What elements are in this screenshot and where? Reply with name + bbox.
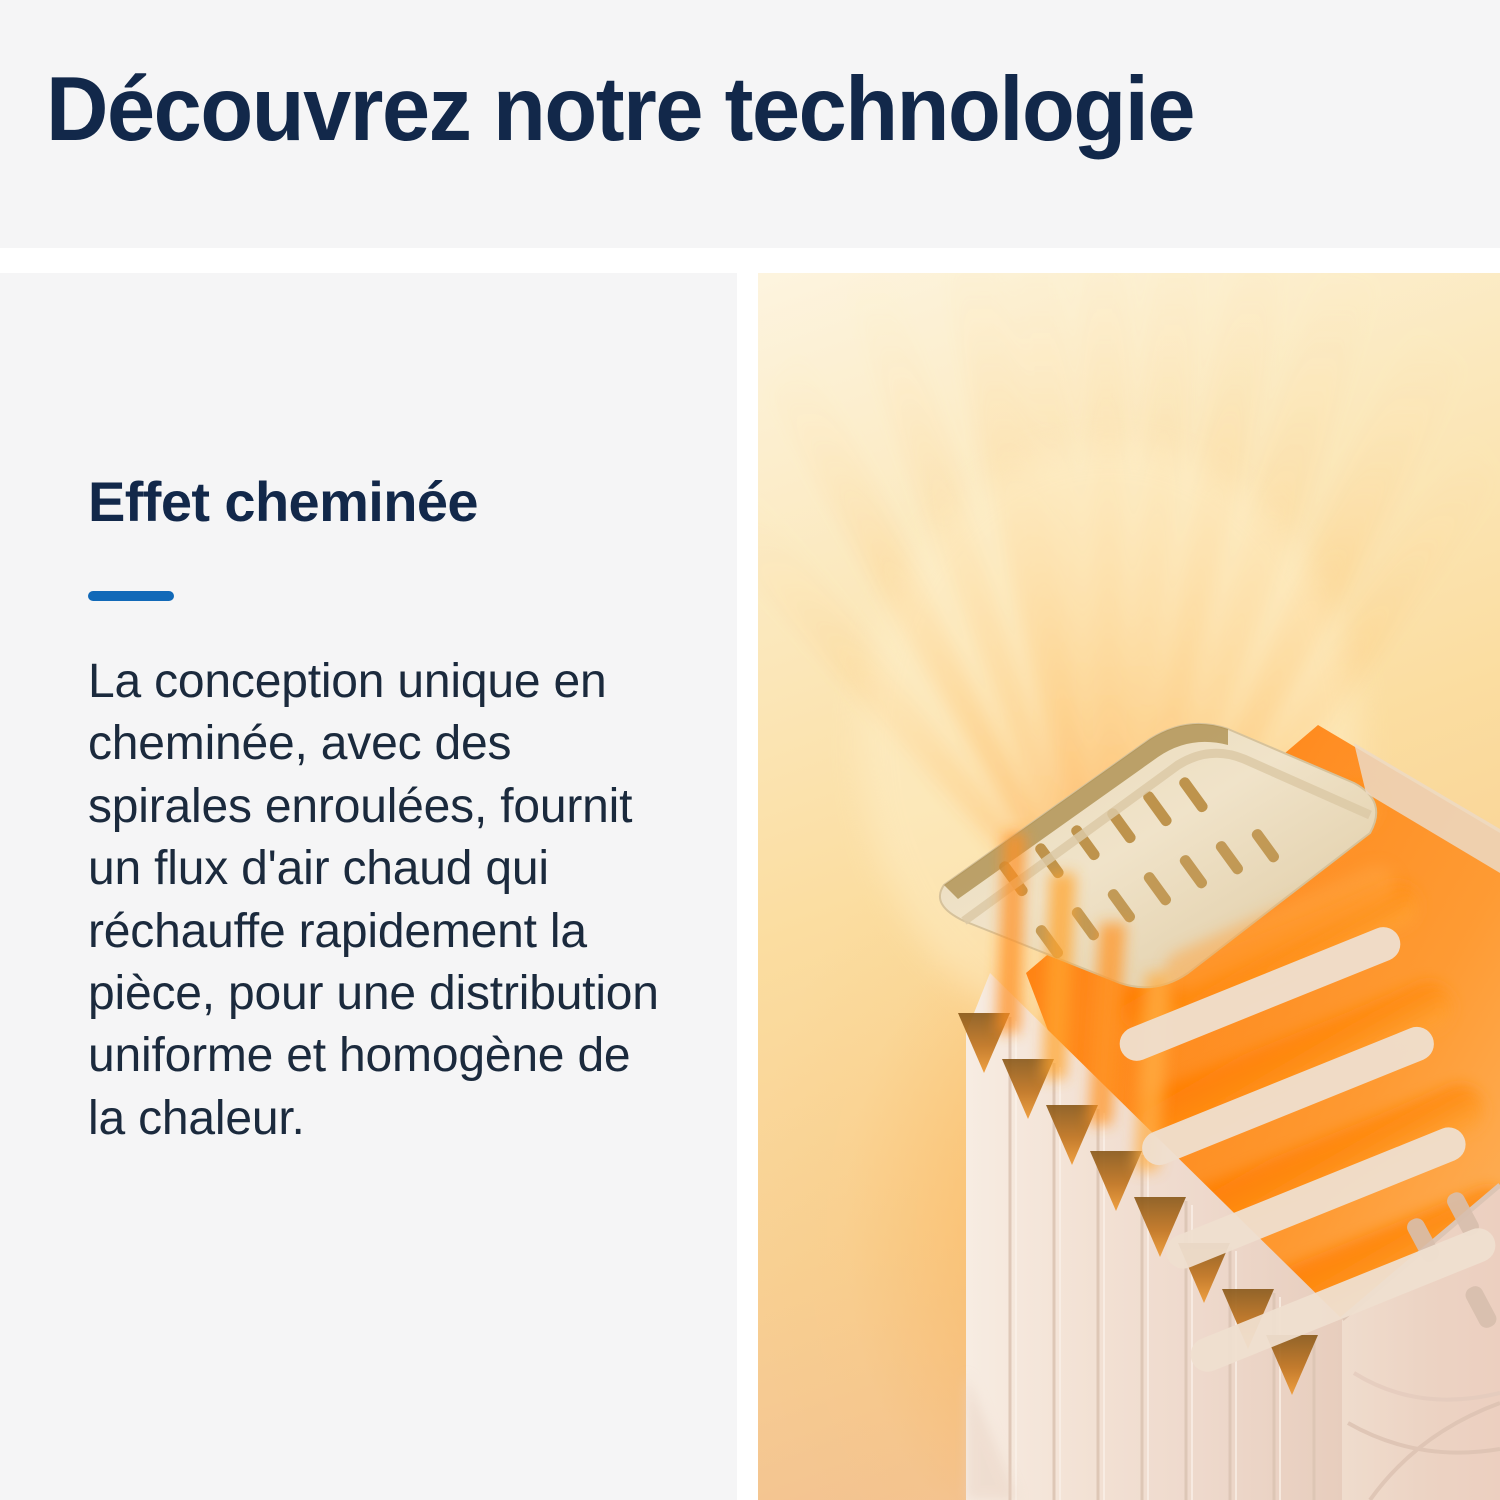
- header-band: Découvrez notre technologie: [0, 0, 1500, 248]
- header-content-divider: [0, 248, 1500, 273]
- feature-heading: Effet cheminée: [88, 469, 478, 534]
- product-image-panel: [758, 273, 1500, 1500]
- page-title: Découvrez notre technologie: [46, 62, 1357, 158]
- panel-vertical-divider: [737, 273, 758, 1500]
- feature-text-panel: Effet cheminée La conception unique en c…: [0, 273, 737, 1500]
- accent-rule-divider: [88, 591, 174, 601]
- feature-body-text: La conception unique en cheminée, avec d…: [88, 651, 670, 1150]
- radiator-graphic: [758, 273, 1500, 1500]
- promo-page: Découvrez notre technologie Effet chemin…: [0, 0, 1500, 1500]
